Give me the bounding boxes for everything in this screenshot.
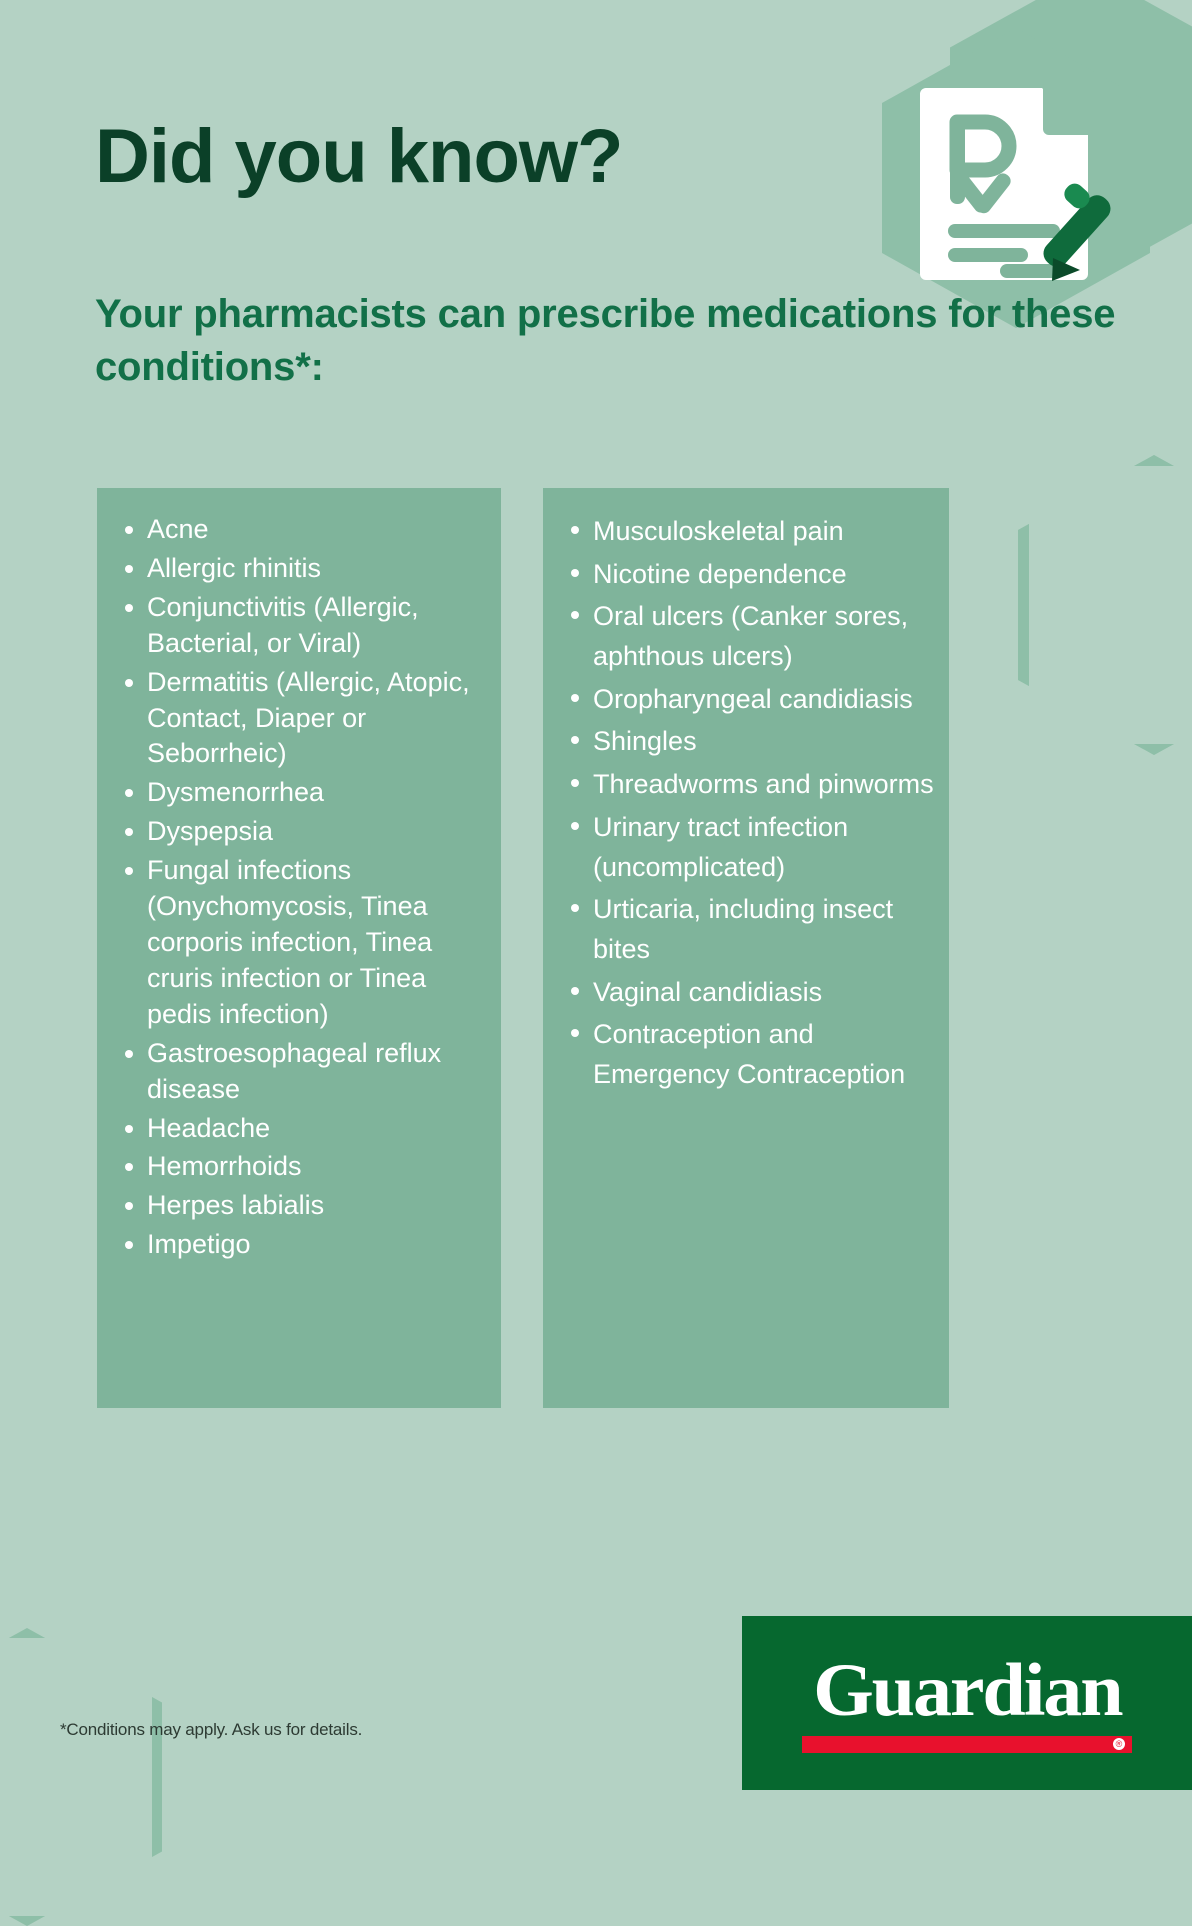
- hexagon-outline-bottom-left: [0, 1628, 162, 1926]
- list-item: Headache: [119, 1111, 485, 1147]
- list-item: Shingles: [565, 722, 935, 762]
- list-item: Allergic rhinitis: [119, 551, 485, 587]
- guardian-logo: Guardian ®: [742, 1616, 1192, 1790]
- list-item: Threadworms and pinworms: [565, 765, 935, 805]
- list-item: Urinary tract infection (uncomplicated): [565, 808, 935, 887]
- list-item: Musculoskeletal pain: [565, 512, 935, 552]
- list-item: Fungal infections (Onychomycosis, Tinea …: [119, 853, 485, 1033]
- guardian-wordmark: Guardian: [813, 1653, 1121, 1728]
- list-item: Oropharyngeal candidiasis: [565, 680, 935, 720]
- hexagon-outline-right: [1018, 455, 1192, 755]
- list-item: Contraception and Emergency Contraceptio…: [565, 1015, 935, 1094]
- list-item: Acne: [119, 512, 485, 548]
- list-item: Nicotine dependence: [565, 555, 935, 595]
- prescription-document-icon: [902, 78, 1114, 290]
- guardian-red-bar: ®: [802, 1736, 1132, 1753]
- list-item: Urticaria, including insect bites: [565, 890, 935, 969]
- list-item: Hemorrhoids: [119, 1149, 485, 1185]
- list-item: Impetigo: [119, 1227, 485, 1263]
- conditions-panel-left: AcneAllergic rhinitisConjunctivitis (All…: [97, 488, 501, 1408]
- page-title: Did you know?: [95, 118, 622, 196]
- page-subtitle: Your pharmacists can prescribe medicatio…: [95, 288, 1192, 394]
- list-item: Gastroesophageal reflux disease: [119, 1036, 485, 1108]
- list-item: Vaginal candidiasis: [565, 973, 935, 1013]
- list-item: Conjunctivitis (Allergic, Bacterial, or …: [119, 590, 485, 662]
- registered-mark: ®: [1113, 1738, 1125, 1750]
- list-item: Dyspepsia: [119, 814, 485, 850]
- poster-canvas: Did you know? Your pharmacists can presc…: [0, 0, 1192, 1790]
- list-item: Dysmenorrhea: [119, 775, 485, 811]
- footnote: *Conditions may apply. Ask us for detail…: [60, 1720, 362, 1740]
- conditions-panel-right: Musculoskeletal painNicotine dependenceO…: [543, 488, 949, 1408]
- list-item: Oral ulcers (Canker sores, aphthous ulce…: [565, 597, 935, 676]
- list-item: Herpes labialis: [119, 1188, 485, 1224]
- conditions-list-left: AcneAllergic rhinitisConjunctivitis (All…: [97, 488, 501, 1263]
- conditions-list-right: Musculoskeletal painNicotine dependenceO…: [543, 488, 949, 1095]
- list-item: Dermatitis (Allergic, Atopic, Contact, D…: [119, 665, 485, 773]
